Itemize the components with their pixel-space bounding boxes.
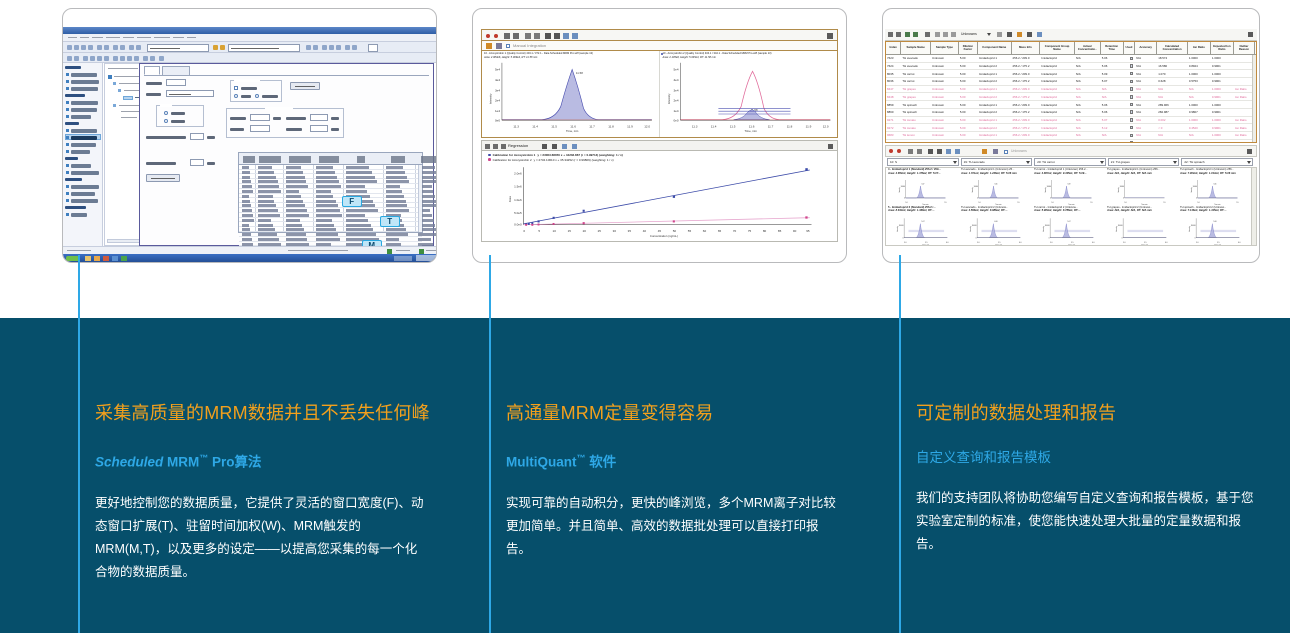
- used-checkbox[interactable]: [1130, 72, 1134, 76]
- table-cell-group: Imidacloprid: [1040, 78, 1075, 85]
- table-row[interactable]: 9272TH tomatoUnknown5.00Imidacloprid 225…: [886, 124, 1256, 132]
- used-checkbox[interactable]: [1130, 103, 1134, 107]
- table-cell-exp_ion_ratio: 0.9901: [1211, 78, 1234, 85]
- table-cell-sample: TH lemon: [901, 132, 931, 139]
- svg-text:11.5: 11.5: [729, 124, 735, 128]
- transition-cell: [346, 166, 369, 169]
- query-icon[interactable]: [925, 32, 930, 37]
- peak-panel[interactable]: TH carrot - Imidacloprid 2 (Unknow...Are…: [1032, 206, 1105, 245]
- table-cell-actual: N/A: [1075, 140, 1101, 142]
- chevron-down-icon[interactable]: [953, 161, 957, 164]
- chromatogram-azoxystrobin-1[interactable]: 10 - Azoxystrobin 1 (Quality Control) 40…: [482, 51, 660, 137]
- transition-cell: [386, 171, 405, 174]
- feature-title-1: 采集高质量的MRM数据并且不丢失任何峰: [95, 400, 453, 426]
- svg-text:11.7: 11.7: [589, 124, 595, 128]
- label-basic: [241, 95, 251, 98]
- chromatogram-pane[interactable]: 10 - Azoxystrobin 1 (Quality Control) 40…: [481, 51, 838, 138]
- pr-print-icon[interactable]: [1247, 149, 1252, 154]
- svg-text:2.0e6: 2.0e6: [514, 171, 522, 175]
- svg-text:15: 15: [568, 229, 572, 233]
- peak-panel[interactable]: TH spinach - Imidacloprid 1 (Unknown) 25…: [1178, 168, 1251, 205]
- magnify-icon[interactable]: [554, 33, 560, 39]
- delete-icon[interactable]: [545, 33, 551, 39]
- radio-advanced[interactable]: [255, 94, 259, 98]
- analyst-toolbar-2[interactable]: [63, 53, 437, 63]
- peak-panel[interactable]: TH avocado - Imidacloprid 2 (Unknow...Ar…: [959, 206, 1032, 245]
- manual-integration-checkbox[interactable]: [506, 44, 510, 48]
- column-header[interactable]: Index: [886, 42, 901, 54]
- table-cell-used: [1124, 78, 1136, 85]
- svg-text:5.0: 5.0: [1197, 202, 1199, 204]
- collapse-icon[interactable]: [485, 144, 490, 149]
- label-enabled: [241, 87, 257, 90]
- table-cell-actual: N/A: [1075, 109, 1101, 116]
- svg-text:30: 30: [613, 229, 617, 233]
- svg-text:90: 90: [793, 229, 797, 233]
- transition-cell: [346, 171, 372, 174]
- transition-cell: [386, 262, 409, 263]
- system-tray[interactable]: [394, 256, 412, 261]
- column-header[interactable]: Actual Concentratio..: [1075, 42, 1101, 54]
- cal-pane-icon-1[interactable]: [562, 144, 567, 149]
- table-row[interactable]: 7624TH avocadoUnknown5.00Imidacloprid 22…: [886, 63, 1256, 71]
- svg-text:25: 25: [598, 229, 602, 233]
- integrate-icon[interactable]: [486, 43, 492, 49]
- table-cell-ion_ratio: 1.0000: [1188, 55, 1211, 62]
- radio-basic[interactable]: [234, 94, 238, 98]
- svg-text:11.3: 11.3: [691, 124, 697, 128]
- checkbox-enabled[interactable]: [234, 86, 238, 90]
- peak-panel-plot: 200000Intensity5.05.56.0Time, min5.06: [1178, 214, 1251, 245]
- column-header[interactable]: Component Name: [978, 42, 1012, 54]
- svg-text:Concentration (ng/mL): Concentration (ng/mL): [650, 234, 678, 238]
- svg-text:5.5: 5.5: [998, 242, 1000, 244]
- pr-magnify-icon[interactable]: [937, 149, 942, 154]
- table-cell-accuracy: N/A: [1135, 132, 1157, 139]
- taskbar-icon-app2[interactable]: [121, 256, 127, 261]
- transition-cell: [316, 200, 336, 203]
- peak-row-top[interactable]: 4 - Imidacloprid 1 (Standard) 256.2 / 20…: [886, 168, 1251, 205]
- table-row[interactable]: 7623TH avocadoUnknown5.00Imidacloprid 12…: [886, 55, 1256, 63]
- sample-selector[interactable]: 20: TH carrot: [1034, 158, 1106, 166]
- pane-icon-2[interactable]: [572, 33, 578, 39]
- transition-cell: [316, 166, 333, 169]
- analyst-navigation-pane[interactable]: [63, 63, 103, 246]
- column-header[interactable]: Retention Time: [1101, 42, 1124, 54]
- pr-baseline-icon[interactable]: [993, 149, 998, 154]
- table-cell-component: Imidacloprid 2: [978, 140, 1012, 142]
- svg-text:0: 0: [903, 237, 904, 239]
- table-cell-dilution: 5.00: [959, 63, 978, 70]
- results-table-body[interactable]: 7623TH avocadoUnknown5.00Imidacloprid 12…: [886, 55, 1256, 142]
- transition-cell: [242, 233, 251, 236]
- screenshot-card-multiquant-peaks[interactable]: Manual Integration 10 - Azoxystrobin 1 (…: [472, 8, 847, 263]
- used-checkbox[interactable]: [1130, 118, 1134, 122]
- table-cell-rt: 5.06: [1101, 109, 1124, 116]
- sample-type-dropdown[interactable]: Unknowns: [961, 32, 977, 36]
- svg-text:Intensity: Intensity: [896, 226, 899, 232]
- screenshot-card-analyst[interactable]: F T M W: [62, 8, 437, 263]
- zoom-in-icon[interactable]: [525, 33, 531, 39]
- table-cell-component: Imidacloprid 1: [978, 101, 1012, 108]
- manual-integration-bar[interactable]: Manual Integration: [481, 41, 838, 51]
- sample-selector[interactable]: 19: TH avocado: [961, 158, 1033, 166]
- radio-positive[interactable]: [164, 111, 168, 115]
- svg-text:11.58: 11.58: [576, 71, 583, 75]
- analyst-menubar[interactable]: [63, 34, 437, 42]
- regression-tab-label[interactable]: Regression: [508, 143, 528, 148]
- svg-text:5.06: 5.06: [995, 183, 998, 185]
- used-checkbox[interactable]: [1130, 141, 1134, 142]
- transition-cell: [418, 262, 437, 263]
- multiquant-window: Manual Integration 10 - Azoxystrobin 1 (…: [473, 9, 846, 262]
- svg-text:Intensity: Intensity: [1044, 187, 1047, 192]
- peak-panel[interactable]: 5 - Imidacloprid 2 (Standard) 256.2 /...…: [886, 206, 959, 245]
- peak-panel[interactable]: 4 - Imidacloprid 1 (Standard) 256.2 / 20…: [886, 168, 959, 205]
- transition-cell: [242, 214, 253, 217]
- edit-parameters-button[interactable]: [146, 174, 180, 182]
- peak-row-bottom[interactable]: 5 - Imidacloprid 2 (Standard) 256.2 /...…: [886, 206, 1251, 245]
- table-row[interactable]: 8448TH grapesUnknown5.00Imidacloprid 225…: [886, 94, 1256, 102]
- transition-cell: [242, 219, 254, 222]
- transition-cell: [242, 176, 250, 179]
- next-peak-icon[interactable]: [494, 34, 498, 38]
- group-icon[interactable]: [943, 32, 948, 37]
- pr-manual-integration-label: Unknowns: [1011, 149, 1027, 153]
- table-cell-exp_ion_ratio: 1.0000: [1211, 101, 1234, 108]
- svg-text:11.6: 11.6: [748, 124, 754, 128]
- column-header[interactable]: Outlier Reason: [1234, 42, 1255, 54]
- peak-panel[interactable]: TH spinach - Imidacloprid 2 (Unknow...Ar…: [1178, 206, 1251, 245]
- transition-cell: [316, 224, 334, 227]
- column-header[interactable]: Calculated Concentration: [1157, 42, 1188, 54]
- column-header[interactable]: Component Group Name: [1040, 42, 1075, 54]
- table-row[interactable]: 8036TH carrotUnknown5.00Imidacloprid 225…: [886, 78, 1256, 86]
- table-cell-dilution: 5.00: [959, 132, 978, 139]
- manual-integration-label: Manual Integration: [513, 43, 546, 48]
- svg-text:Time, min: Time, min: [1141, 244, 1148, 245]
- table-cell-mass: 256.2 / 175.2: [1012, 94, 1041, 101]
- analyst-mode-combo[interactable]: [147, 44, 209, 52]
- chevron-down-icon[interactable]: [1173, 161, 1177, 164]
- transition-cell: [242, 224, 249, 227]
- excel-icon[interactable]: [905, 32, 910, 37]
- period-summary-group: [226, 108, 344, 138]
- svg-text:10: 10: [553, 229, 557, 233]
- multiquant-results-window: Unknowns IndexSample NameSample TypeDilu…: [883, 9, 1259, 262]
- table-cell-accuracy: N/A: [1135, 117, 1157, 124]
- grid-scrollbar[interactable]: [418, 165, 422, 232]
- table-cell-used: [1124, 101, 1136, 108]
- label-cycles: [230, 128, 244, 131]
- svg-text:70: 70: [733, 229, 737, 233]
- table-cell-group: Imidacloprid: [1040, 117, 1075, 124]
- chevron-down-icon[interactable]: [1247, 161, 1251, 164]
- experiment-combo[interactable]: [166, 79, 186, 86]
- peak-panel[interactable]: TH carrot - Imidacloprid 1 (Unknown) 256…: [1032, 168, 1105, 205]
- unit-min: [273, 117, 281, 120]
- svg-text:6.0: 6.0: [1019, 242, 1021, 244]
- table-cell-dilution: 5.00: [959, 124, 978, 131]
- last-icon[interactable]: [513, 33, 519, 39]
- svg-text:35: 35: [628, 229, 632, 233]
- svg-text:5.5: 5.5: [925, 242, 927, 244]
- zoom-out-icon[interactable]: [534, 33, 540, 39]
- used-checkbox[interactable]: [1130, 64, 1134, 68]
- radio-negative[interactable]: [164, 119, 168, 123]
- regression-icon: [501, 144, 506, 149]
- chevron-down-icon[interactable]: [987, 33, 991, 36]
- prev-peak-icon[interactable]: [486, 34, 490, 38]
- column-header[interactable]: Sample Name: [901, 42, 931, 54]
- svg-text:Time, min: Time, min: [744, 129, 757, 133]
- results-table[interactable]: IndexSample NameSample TypeDilution Fact…: [885, 41, 1257, 143]
- svg-text:0: 0: [1196, 197, 1197, 199]
- import-list-button[interactable]: [290, 82, 320, 90]
- transition-cell: [258, 228, 275, 231]
- refresh-icon[interactable]: [997, 32, 1002, 37]
- windows-taskbar[interactable]: [63, 254, 437, 262]
- peak-grid-scrollbar[interactable]: [1251, 168, 1256, 245]
- subtitle-3-rest: 自定义查询和报告模板: [916, 450, 1051, 465]
- tab-advanced-ms[interactable]: [162, 66, 190, 75]
- peak-panel[interactable]: TH grapes - Imidacloprid 1 (Unknown) 256…: [1105, 168, 1178, 205]
- svg-text:6.0: 6.0: [946, 242, 948, 244]
- table-cell-calc: 1.070: [1157, 70, 1188, 77]
- svg-text:6.0: 6.0: [1238, 242, 1240, 244]
- svg-text:5.07: 5.07: [922, 183, 925, 185]
- column-header[interactable]: Accuracy: [1135, 42, 1157, 54]
- cycles-value[interactable]: [250, 125, 270, 132]
- results-table-scrollbar[interactable]: [1252, 55, 1256, 142]
- used-checkbox[interactable]: [1130, 87, 1134, 91]
- column-header[interactable]: Dilution Factor: [959, 42, 978, 54]
- chevron-down-icon[interactable]: [1026, 161, 1030, 164]
- method-combo[interactable]: [228, 44, 300, 52]
- svg-text:12.0: 12.0: [822, 124, 828, 128]
- calibration-toolbar[interactable]: Regression: [481, 140, 838, 151]
- taskbar-icon-analyst[interactable]: [112, 256, 118, 261]
- table-cell-used: [1124, 70, 1136, 77]
- transition-cell: [258, 204, 276, 207]
- table-row[interactable]: 9684TH lemonUnknown5.00Imidacloprid 2256…: [886, 140, 1256, 142]
- cal-series-1-label: Calibration for Azoxystrobin 1: [493, 153, 536, 157]
- table-row[interactable]: 8859TH spinachUnknown5.00Imidacloprid 12…: [886, 101, 1256, 109]
- pr-pane-icon-1[interactable]: [946, 149, 951, 154]
- column-header[interactable]: Expected Ion Ratio: [1211, 42, 1234, 54]
- column-header[interactable]: Ion Ratio: [1188, 42, 1211, 54]
- table-row[interactable]: 9271TH tomatoUnknown5.00Imidacloprid 125…: [886, 117, 1256, 125]
- pr-zoom-in-icon[interactable]: [908, 149, 913, 154]
- table-cell-mass: 256.2 / 175.2: [1012, 63, 1041, 70]
- table-cell-group: Imidacloprid: [1040, 101, 1075, 108]
- svg-text:Time, min: Time, min: [1214, 244, 1221, 245]
- pr-integrate-icon[interactable]: [982, 149, 987, 154]
- export-icon[interactable]: [913, 32, 918, 37]
- sample-selector[interactable]: 22: TH spinach: [1181, 158, 1253, 166]
- print-icon[interactable]: [827, 33, 833, 39]
- table-cell-accuracy: N/A: [1135, 101, 1157, 108]
- cal-pane-icon-2[interactable]: [572, 144, 577, 149]
- transition-cell: [316, 238, 340, 241]
- cal-delete-icon[interactable]: [542, 144, 547, 149]
- table-cell-mass: 256.2 / 209.0: [1012, 55, 1041, 62]
- used-checkbox[interactable]: [1130, 80, 1134, 84]
- transition-cell: [286, 233, 306, 236]
- peak-review-grid[interactable]: 4 - Imidacloprid 1 (Standard) 256.2 / 20…: [885, 168, 1257, 246]
- cal-series-2-equation: y = 2734.10610 x + 35.34252 (r = 0.99809…: [534, 158, 614, 162]
- mrm-detection-window-input[interactable]: [190, 133, 204, 140]
- table-row[interactable]: 8035TH carrotUnknown5.00Imidacloprid 125…: [886, 70, 1256, 78]
- transition-cell: [258, 200, 274, 203]
- table-cell-sample: TH tomato: [901, 124, 931, 131]
- analyst-toolbar[interactable]: [63, 42, 437, 53]
- sort-icon[interactable]: [493, 144, 498, 149]
- peak-panel-subtitle: Area: 7.002e4, Height: 1.014e4, RT: 5.06…: [1178, 172, 1251, 175]
- transition-cell: [346, 180, 377, 183]
- svg-text:1.5e6: 1.5e6: [514, 185, 522, 189]
- svg-text:10000: 10000: [1193, 186, 1198, 188]
- prev-sample-icon[interactable]: [889, 149, 893, 153]
- svg-text:0.0e0: 0.0e0: [514, 223, 522, 227]
- svg-text:10000: 10000: [1047, 186, 1052, 188]
- svg-text:5e4: 5e4: [495, 67, 500, 71]
- column-header[interactable]: Sample Type: [931, 42, 959, 54]
- label-advanced: [262, 95, 278, 98]
- table-cell-mass: 256.2 / 209.0: [1012, 101, 1041, 108]
- svg-text:0e0: 0e0: [673, 119, 678, 123]
- used-checkbox[interactable]: [1130, 95, 1134, 99]
- transition-cell: [418, 233, 437, 236]
- used-checkbox[interactable]: [1130, 126, 1134, 130]
- table-cell-exp_ion_ratio: 0.9901: [1211, 109, 1234, 116]
- svg-text:50: 50: [673, 229, 677, 233]
- svg-text:5.0: 5.0: [1051, 202, 1053, 204]
- subtitle-1-tail: Pro算法: [208, 455, 261, 470]
- table-cell-index: 8035: [886, 70, 901, 77]
- table-cell-component: Imidacloprid 2: [978, 124, 1012, 131]
- transition-cell: [242, 204, 251, 207]
- sort-icon-2[interactable]: [951, 32, 956, 37]
- peak-panel[interactable]: TH grapes - Imidacloprid 2 (Unknow...Are…: [1105, 206, 1178, 245]
- cal-magnify-icon[interactable]: [552, 144, 557, 149]
- svg-text:20000: 20000: [1045, 225, 1050, 227]
- calibration-pane[interactable]: Calibration for Azoxystrobin 1 y = 23063…: [481, 151, 838, 242]
- calculate-icon[interactable]: [1007, 32, 1012, 37]
- table-cell-mass: 256.2 / 209.0: [1012, 132, 1041, 139]
- used-checkbox[interactable]: [1130, 134, 1134, 138]
- filter-icon[interactable]: [935, 32, 940, 37]
- layout-icon[interactable]: [1037, 32, 1042, 37]
- table-cell-index: 8447: [886, 86, 901, 93]
- peak-panel[interactable]: TH avocado - Imidacloprid 1 (Unknown) 25…: [959, 168, 1032, 205]
- svg-text:4.06: 4.06: [994, 221, 997, 223]
- next-sample-icon[interactable]: [897, 149, 901, 153]
- tab-ms[interactable]: [144, 66, 160, 75]
- column-header[interactable]: Used: [1124, 42, 1136, 54]
- label-experiment: [146, 82, 162, 85]
- used-checkbox[interactable]: [1130, 57, 1134, 61]
- used-checkbox[interactable]: [1130, 110, 1134, 114]
- transition-cell: [258, 214, 280, 217]
- table-cell-actual: N/A: [1075, 86, 1101, 93]
- taskbar-icon-explorer[interactable]: [85, 256, 91, 261]
- peak-panel-plot: 200000Intensity5.05.56.0Time, min5.07: [886, 214, 959, 245]
- cal-print-icon[interactable]: [828, 144, 833, 149]
- scan-type-combo[interactable]: [166, 90, 214, 97]
- flag-icon[interactable]: [1017, 32, 1022, 37]
- table-cell-exp_ion_ratio: 0.9901: [1211, 124, 1234, 131]
- table-cell-index: 8448: [886, 94, 901, 101]
- unit-sec-3: [331, 128, 339, 131]
- zoom-icon[interactable]: [1027, 32, 1032, 37]
- table-cell-group: Imidacloprid: [1040, 132, 1075, 139]
- chromatogram-azoxystrobin-2[interactable]: 10 - Azoxystrobin 2 (Quality Control) 40…: [660, 51, 838, 137]
- transition-cell: [386, 233, 408, 236]
- svg-text:60: 60: [703, 229, 707, 233]
- multiquant-peak-toolbar[interactable]: [481, 29, 838, 41]
- transition-cell: [286, 228, 304, 231]
- chevron-down-icon[interactable]: [1100, 161, 1104, 164]
- pr-pane-icon-2[interactable]: [955, 149, 960, 154]
- screenshot-card-multiquant-results[interactable]: Unknowns IndexSample NameSample TypeDilu…: [882, 8, 1260, 263]
- taskbar-icon-folder[interactable]: [94, 256, 100, 261]
- sample-selector-row[interactable]: 10: S19: TH avocado20: TH carrot21: TH g…: [885, 157, 1257, 168]
- transition-cell: [316, 209, 340, 212]
- svg-text:5.07: 5.07: [1067, 221, 1070, 223]
- column-header[interactable]: Mass Info: [1012, 42, 1041, 54]
- svg-text:12.0: 12.0: [644, 124, 650, 128]
- pr-zoom-out-icon[interactable]: [917, 149, 922, 154]
- label-negative: [171, 120, 185, 123]
- svg-text:Intensity: Intensity: [1188, 226, 1191, 232]
- table-row[interactable]: 9683TH lemonUnknown5.00Imidacloprid 1256…: [886, 132, 1256, 140]
- table-cell-ion_ratio: 0.5753: [1188, 78, 1211, 85]
- transition-cell: [316, 190, 331, 193]
- sample-selector[interactable]: 21: TH grapes: [1108, 158, 1180, 166]
- taskbar-icon-app1[interactable]: [103, 256, 109, 261]
- table-row[interactable]: 8447TH grapesUnknown5.00Imidacloprid 125…: [886, 86, 1256, 94]
- table-cell-type: Unknown: [931, 109, 959, 116]
- table-cell-index: 8859: [886, 101, 901, 108]
- svg-text:4e4: 4e4: [495, 78, 500, 82]
- transition-cell: [346, 176, 375, 179]
- pr-delete-icon[interactable]: [928, 149, 933, 154]
- results-toolbar[interactable]: Unknowns: [885, 29, 1257, 41]
- table-cell-sample: TH carrot: [901, 78, 931, 85]
- peak-review-toolbar[interactable]: Unknowns: [885, 145, 1257, 157]
- svg-text:Intensity: Intensity: [667, 93, 671, 104]
- baseline-icon[interactable]: [496, 43, 502, 49]
- svg-text:5.0: 5.0: [1050, 242, 1052, 244]
- first-icon[interactable]: [504, 33, 510, 39]
- peak-panel-subtitle: Area: 5.983e2, Height: 8.786e1, RT:...: [1032, 209, 1105, 212]
- sample-selector[interactable]: 10: S: [887, 158, 959, 166]
- toolbar-extra[interactable]: [368, 44, 378, 52]
- table-icon[interactable]: [888, 32, 893, 37]
- target-scan-time-input[interactable]: [190, 159, 204, 166]
- table-row[interactable]: 8860TH spinachUnknown5.00Imidacloprid 22…: [886, 109, 1256, 117]
- pr-manual-integration-checkbox[interactable]: [1004, 150, 1008, 154]
- table-cell-actual: N/A: [1075, 55, 1101, 62]
- table-cell-used: [1124, 94, 1136, 101]
- table-cell-actual: N/A: [1075, 101, 1101, 108]
- transition-cell: [242, 166, 249, 169]
- transition-cell: [258, 190, 281, 193]
- results-print-icon[interactable]: [1248, 32, 1253, 37]
- lock-icon[interactable]: [896, 32, 901, 37]
- pane-icon-1[interactable]: [563, 33, 569, 39]
